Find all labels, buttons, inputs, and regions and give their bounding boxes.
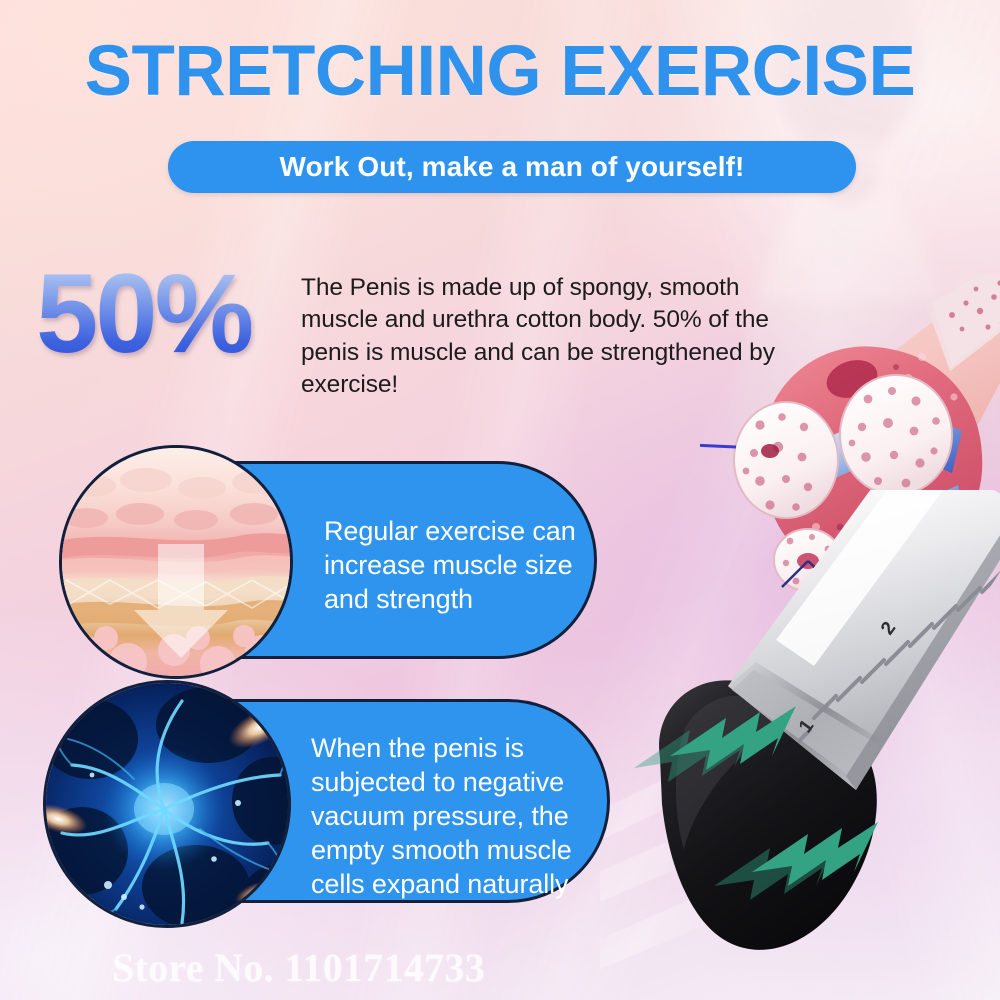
skin-layers-thumbnail	[59, 445, 293, 679]
info-card-exercise: Regular exercise can increase muscle siz…	[72, 461, 597, 659]
subtitle-text: Work Out, make a man of yourself!	[280, 151, 745, 183]
stat-percentage: 50%	[36, 258, 251, 370]
page-title: STRETCHING EXERCISE	[0, 36, 1000, 107]
info-card-vacuum: When the penis is subjected to negative …	[62, 699, 610, 903]
subtitle-banner: Work Out, make a man of yourself!	[168, 141, 856, 193]
store-number-watermark: Store No. 1101714733	[112, 944, 485, 991]
neuron-cells-thumbnail	[43, 680, 291, 928]
info-card-vacuum-text: When the penis is subjected to negative …	[311, 731, 611, 901]
stat-description: The Penis is made up of spongy, smooth m…	[301, 272, 781, 401]
info-card-exercise-text: Regular exercise can increase muscle siz…	[324, 514, 604, 616]
vacuum-pump-device-illustration: 2 1	[600, 490, 1000, 990]
poster-canvas: STRETCHING EXERCISE Work Out, make a man…	[0, 0, 1000, 1000]
